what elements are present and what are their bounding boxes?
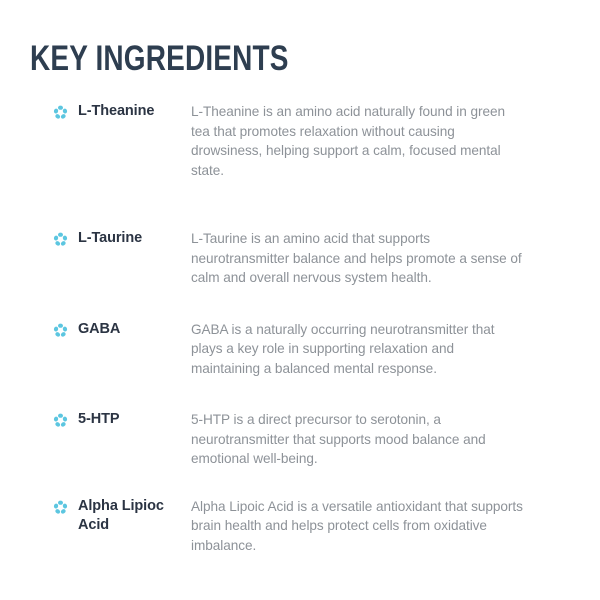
flower-rosette-icon xyxy=(53,413,68,428)
ingredient-description: L-Theanine is an amino acid naturally fo… xyxy=(191,102,523,180)
ingredient-list: L-Theanine L-Theanine is an amino acid n… xyxy=(0,95,600,555)
ingredient-description: Alpha Lipoic Acid is a versatile antioxi… xyxy=(191,497,523,556)
list-item: Alpha Lipioc Acid Alpha Lipoic Acid is a… xyxy=(0,497,600,556)
ingredient-name: L-Theanine xyxy=(78,102,191,121)
ingredient-name: GABA xyxy=(78,320,191,339)
ingredient-description: L-Taurine is an amino acid that supports… xyxy=(191,229,523,288)
key-ingredients-page: KEY INGREDIENTS L-Theanine L-Theanine is… xyxy=(0,0,600,600)
list-item: 5-HTP 5-HTP is a direct precursor to ser… xyxy=(0,410,600,469)
list-item: L-Theanine L-Theanine is an amino acid n… xyxy=(0,102,600,180)
flower-rosette-icon xyxy=(53,105,68,120)
page-title: KEY INGREDIENTS xyxy=(30,39,289,79)
ingredient-name: L-Taurine xyxy=(78,229,191,248)
ingredient-description: 5-HTP is a direct precursor to serotonin… xyxy=(191,410,523,469)
flower-rosette-icon xyxy=(53,323,68,338)
ingredient-description: GABA is a naturally occurring neurotrans… xyxy=(191,320,523,379)
flower-rosette-icon xyxy=(53,500,68,515)
ingredient-name: 5-HTP xyxy=(78,410,191,429)
ingredient-name: Alpha Lipioc Acid xyxy=(78,497,191,535)
list-item: GABA GABA is a naturally occurring neuro… xyxy=(0,320,600,379)
flower-rosette-icon xyxy=(53,232,68,247)
list-item: L-Taurine L-Taurine is an amino acid tha… xyxy=(0,229,600,288)
